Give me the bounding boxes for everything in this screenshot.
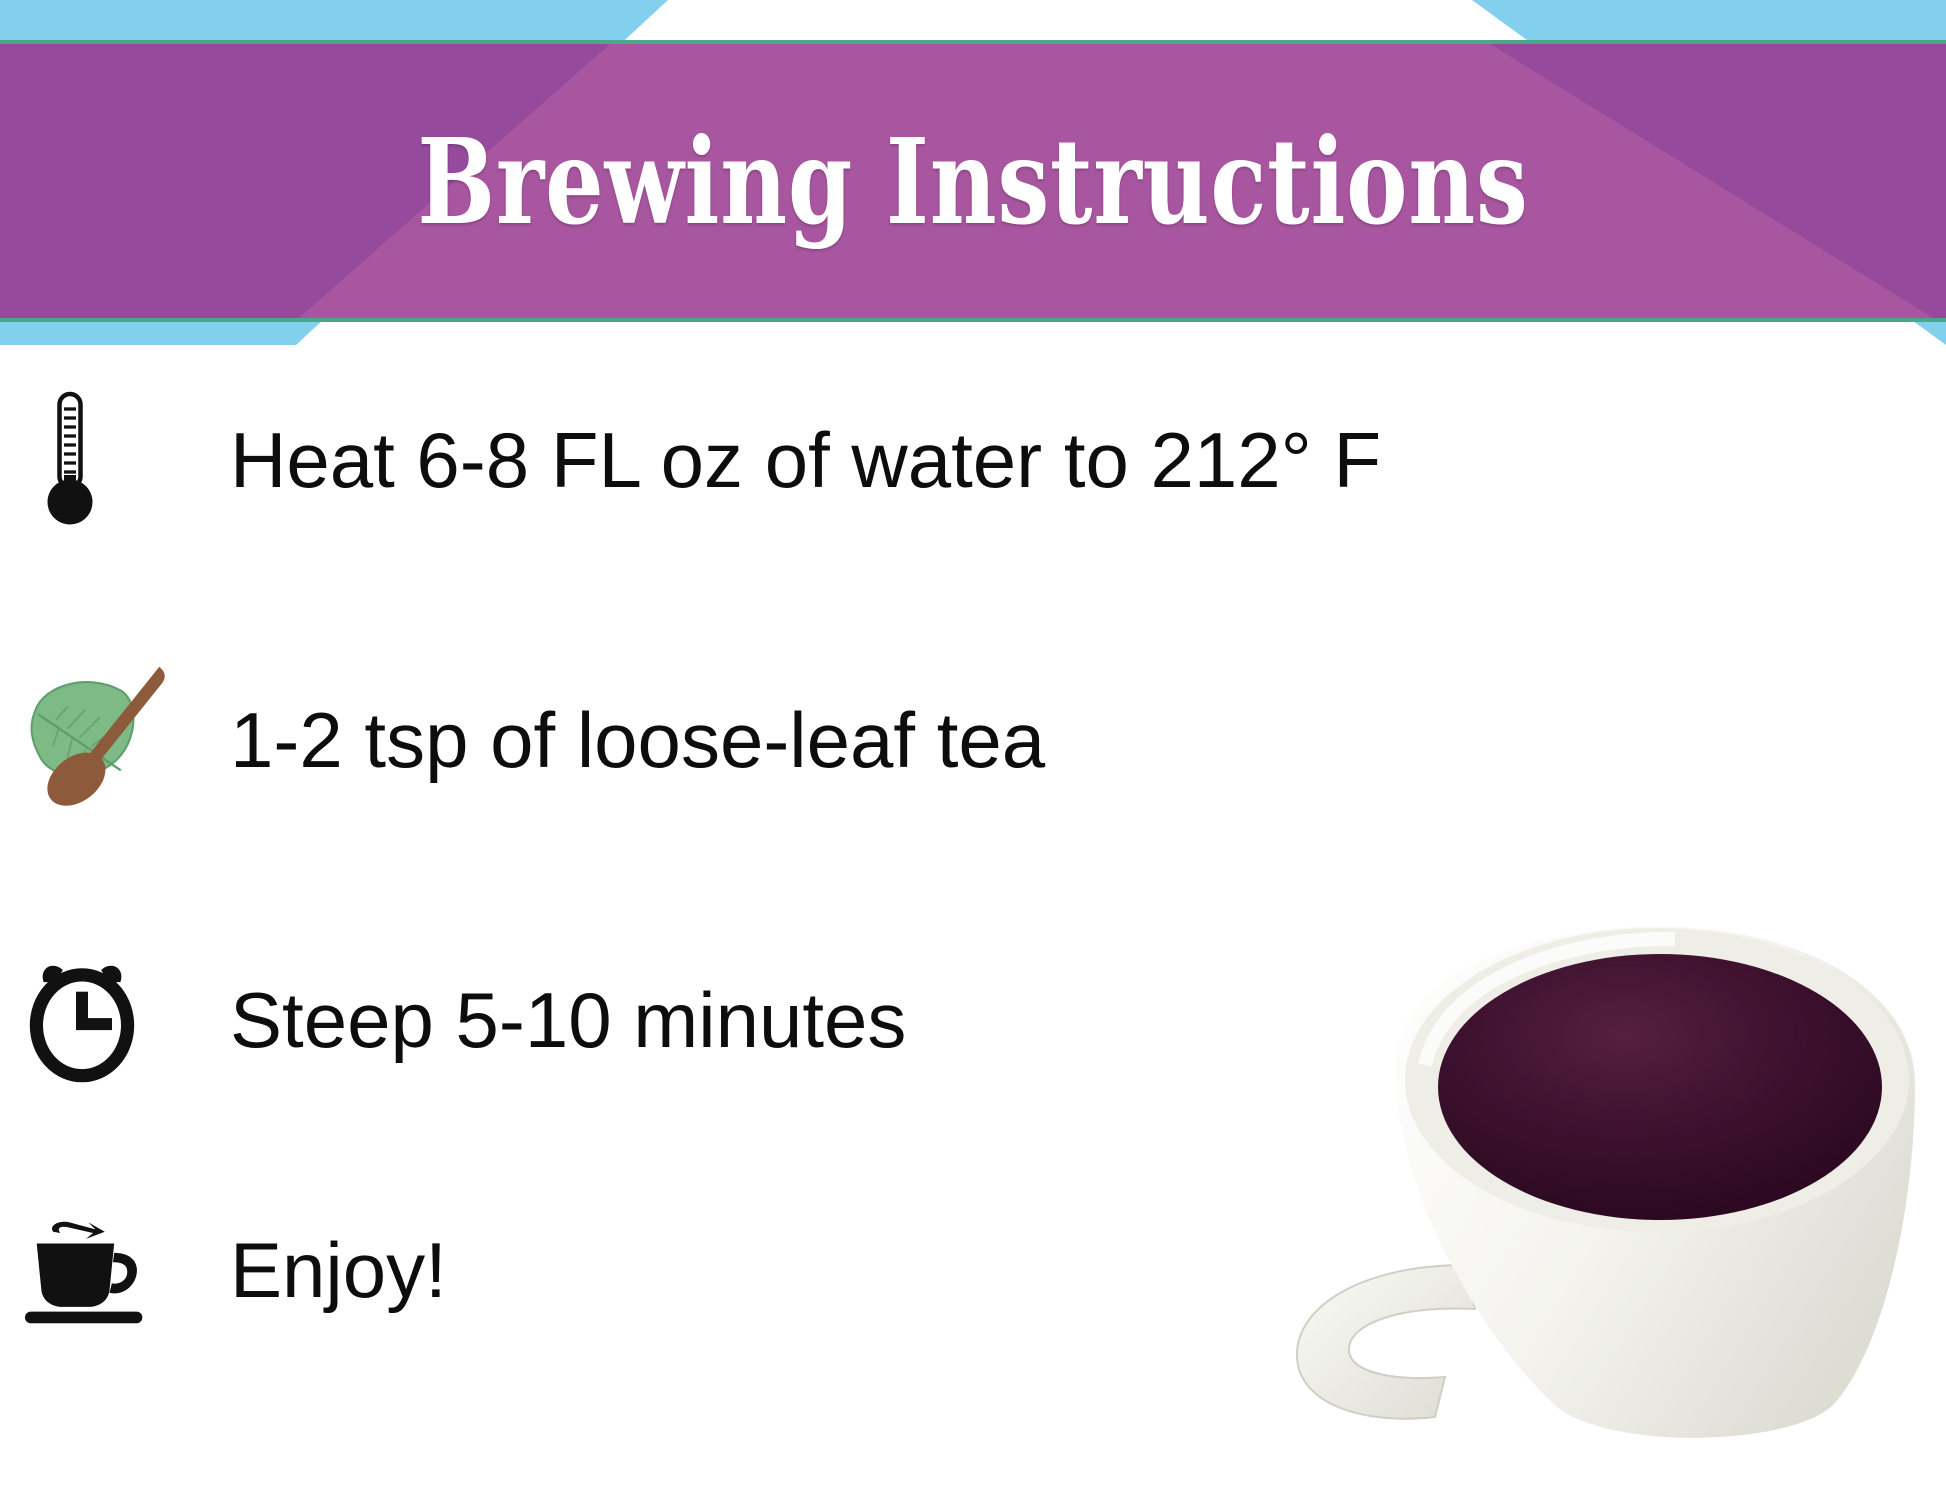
instruction-step-label: 1-2 tsp of loose-leaf tea [230, 701, 1045, 779]
alarm-clock-icon-glyph [22, 958, 142, 1083]
instruction-step: Enjoy! [0, 1175, 447, 1365]
teacup-icon [0, 1175, 230, 1365]
instruction-step-label: Steep 5-10 minutes [230, 981, 906, 1059]
thermometer-icon [0, 365, 230, 555]
alarm-clock-icon [0, 925, 230, 1115]
leaf-and-spoon-icon [0, 645, 230, 835]
instruction-step-label: Enjoy! [230, 1231, 447, 1309]
instruction-step: 1-2 tsp of loose-leaf tea [0, 645, 1045, 835]
instruction-step: Heat 6-8 FL oz of water to 212° F [0, 365, 1381, 555]
teacup-icon-glyph [22, 1213, 150, 1328]
tea-surface [1438, 954, 1882, 1220]
page-header: Brewing Instructions [0, 0, 1946, 345]
thermometer-icon-glyph [22, 385, 118, 535]
leaf-and-spoon-icon-glyph [22, 655, 187, 825]
tea-cup-photo [1275, 905, 1935, 1450]
instruction-step-label: Heat 6-8 FL oz of water to 212° F [230, 421, 1381, 499]
instruction-step: Steep 5-10 minutes [0, 925, 906, 1115]
page-title: Brewing Instructions [214, 40, 1732, 322]
mug-handle [1297, 1265, 1475, 1419]
